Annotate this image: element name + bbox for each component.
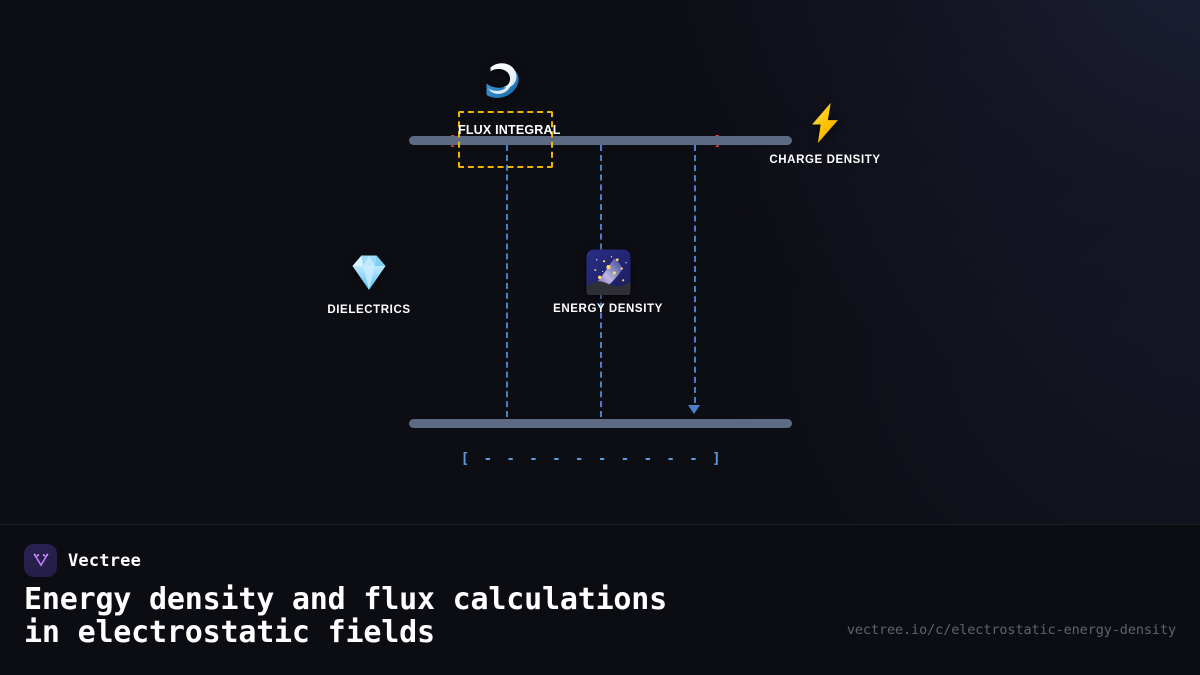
- gem-stone-icon: [304, 248, 434, 296]
- page-url: vectree.io/c/electrostatic-energy-densit…: [847, 622, 1176, 638]
- page-title: Energy density and flux calculations in …: [24, 583, 864, 649]
- node-flux-integral-inline-label: FLUX INTEGRAL: [458, 123, 561, 137]
- electrostatics-diagram: [ + + + + ] [ - - - - - - - - - - ]: [0, 0, 1200, 520]
- selection-box-flux-integral[interactable]: [458, 111, 553, 168]
- high-voltage-icon: [760, 100, 890, 146]
- node-energy-density[interactable]: ENERGY DENSITY: [543, 248, 673, 315]
- brand-row[interactable]: Vectree: [24, 544, 141, 577]
- negative-charge-markers: [ - - - - - - - - - - ]: [415, 435, 724, 483]
- node-dielectrics[interactable]: DIELECTRICS: [304, 248, 434, 316]
- negative-plate-bar: [409, 419, 792, 428]
- footer: Vectree Energy density and flux calculat…: [0, 524, 1200, 675]
- node-flux-integral[interactable]: FLUX INTEGRAL: [456, 56, 556, 108]
- brand-name: Vectree: [68, 551, 141, 571]
- field-line-3: [694, 145, 696, 403]
- node-energy-density-label: ENERGY DENSITY: [543, 303, 673, 315]
- wave-icon: [456, 56, 556, 108]
- field-line-1: [506, 145, 508, 417]
- node-charge-density[interactable]: CHARGE DENSITY: [760, 100, 890, 166]
- negative-charge-markers-text: [ - - - - - - - - - - ]: [461, 451, 724, 467]
- node-dielectrics-label: DIELECTRICS: [304, 304, 434, 316]
- milky-way-icon: [543, 248, 673, 295]
- node-flux-integral-inline-label-wrap: FLUX INTEGRAL: [458, 121, 553, 139]
- node-charge-density-label: CHARGE DENSITY: [760, 154, 890, 166]
- field-line-3-arrowhead: [688, 405, 700, 414]
- vectree-logo-icon: [24, 544, 57, 577]
